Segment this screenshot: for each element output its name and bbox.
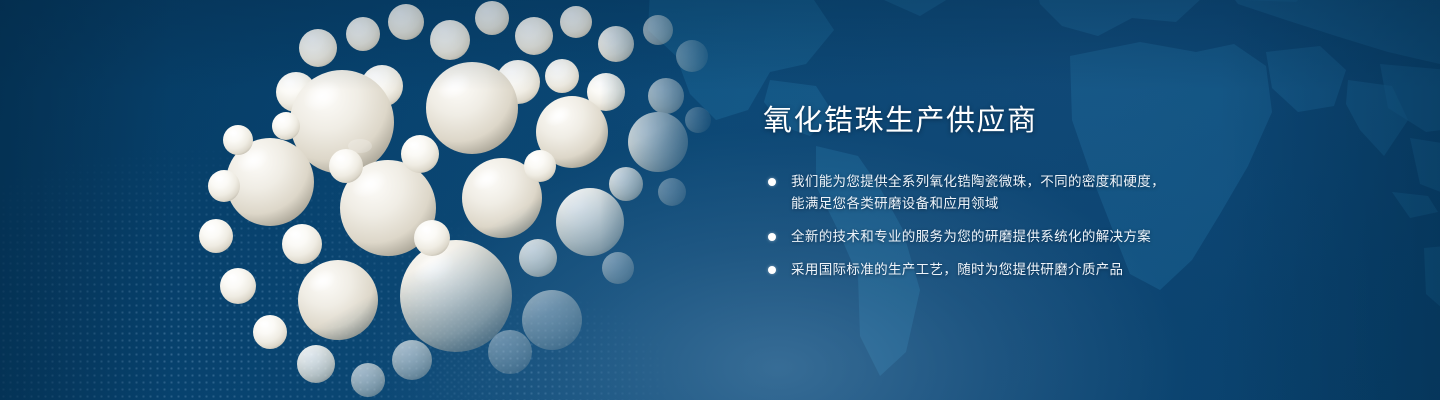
hero-banner: 氧化锆珠生产供应商 我们能为您提供全系列氧化锆陶瓷微珠，不同的密度和硬度， 能满… — [0, 0, 1440, 400]
bullet-line: 我们能为您提供全系列氧化锆陶瓷微珠，不同的密度和硬度， — [791, 171, 1363, 193]
bullet-line: 全新的技术和专业的服务为您的研磨提供系统化的解决方案 — [791, 226, 1363, 248]
bullet-line: 采用国际标准的生产工艺，随时为您提供研磨介质产品 — [791, 259, 1363, 281]
list-item: 采用国际标准的生产工艺，随时为您提供研磨介质产品 — [763, 259, 1363, 281]
bullet-dot-icon — [768, 178, 776, 186]
banner-title: 氧化锆珠生产供应商 — [763, 104, 1363, 139]
bullet-line: 能满足您各类研磨设备和应用领域 — [791, 193, 1363, 215]
bullet-dot-icon — [768, 266, 776, 274]
list-item: 我们能为您提供全系列氧化锆陶瓷微珠，不同的密度和硬度， 能满足您各类研磨设备和应… — [763, 171, 1363, 215]
bullet-dot-icon — [768, 233, 776, 241]
list-item: 全新的技术和专业的服务为您的研磨提供系统化的解决方案 — [763, 226, 1363, 248]
feature-list: 我们能为您提供全系列氧化锆陶瓷微珠，不同的密度和硬度， 能满足您各类研磨设备和应… — [763, 171, 1363, 281]
banner-copy: 氧化锆珠生产供应商 我们能为您提供全系列氧化锆陶瓷微珠，不同的密度和硬度， 能满… — [763, 104, 1363, 281]
